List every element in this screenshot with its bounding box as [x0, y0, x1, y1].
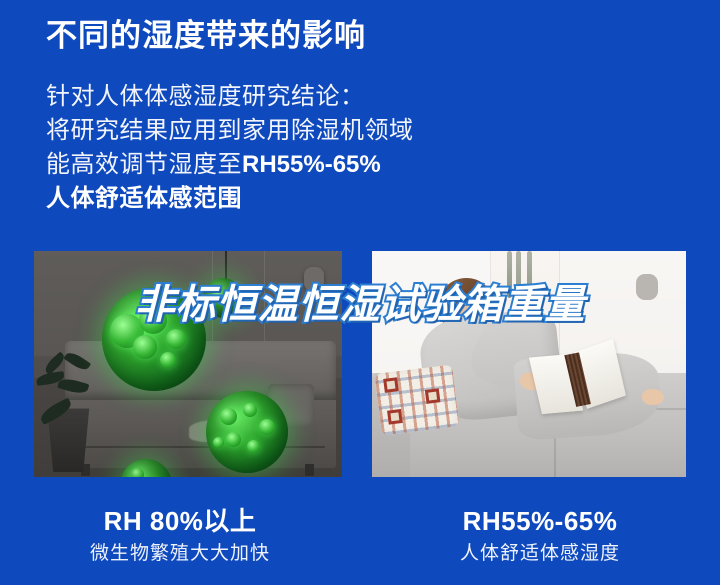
- intro-line-4: 人体舒适体感范围: [46, 182, 516, 216]
- microbe-bud-icon: [224, 298, 234, 308]
- microbe-bud-icon: [131, 468, 144, 477]
- microbe-bud-icon: [220, 408, 237, 425]
- pillow-pattern-icon: [425, 388, 441, 404]
- microbe-bud-icon: [139, 306, 167, 334]
- microbe-bud-icon: [247, 440, 260, 453]
- page-title: 不同的湿度带来的影响: [46, 17, 366, 54]
- wall-knob-icon: [304, 267, 324, 291]
- foot-icon: [642, 389, 664, 405]
- microbe-bud-icon: [133, 335, 157, 359]
- intro-line-3-emphasis: RH55%-65%: [242, 151, 381, 178]
- humidity-infographic-page: 不同的湿度带来的影响 针对人体体感湿度研究结论： 将研究结果应用到家用除湿机领域…: [0, 0, 720, 585]
- caption-title: RH 80%以上: [0, 505, 360, 537]
- microbe-bud-icon: [226, 432, 241, 447]
- microbe-bud-icon: [259, 419, 275, 435]
- photo-comfort-humidity: [372, 251, 686, 477]
- dark-room-illustration: [34, 251, 342, 477]
- intro-paragraph: 针对人体体感湿度研究结论： 将研究结果应用到家用除湿机领域 能高效调节湿度至RH…: [46, 80, 516, 216]
- person-reading-icon: [372, 251, 686, 477]
- intro-line-2: 将研究结果应用到家用除湿机领域: [46, 114, 516, 148]
- pillow-icon: [375, 364, 460, 435]
- intro-line-1: 针对人体体感湿度研究结论：: [46, 80, 516, 114]
- microbe-bud-icon: [160, 352, 176, 368]
- caption-subtitle: 人体舒适体感湿度: [360, 541, 720, 567]
- microbe-bud-icon: [166, 329, 186, 349]
- photo-comparison-row: [0, 251, 720, 477]
- microbe-icon: [102, 287, 206, 391]
- microbe-bud-icon: [213, 437, 224, 448]
- pillow-pattern-icon: [387, 409, 403, 425]
- microbe-bud-icon: [243, 403, 257, 417]
- caption-high-humidity: RH 80%以上 微生物繁殖大大加快: [0, 505, 360, 567]
- photo-high-humidity: [34, 251, 342, 477]
- intro-line-3: 能高效调节湿度至RH55%-65%: [46, 148, 516, 182]
- light-room-illustration: [372, 251, 686, 477]
- caption-title: RH55%-65%: [360, 505, 720, 537]
- sofa-leg-icon: [305, 464, 314, 476]
- pillow-pattern-icon: [383, 377, 399, 393]
- microbe-icon: [206, 391, 288, 473]
- intro-line-3-prefix: 能高效调节湿度至: [46, 151, 242, 178]
- caption-subtitle: 微生物繁殖大大加快: [0, 541, 360, 567]
- caption-comfort-humidity: RH55%-65% 人体舒适体感湿度: [360, 505, 720, 567]
